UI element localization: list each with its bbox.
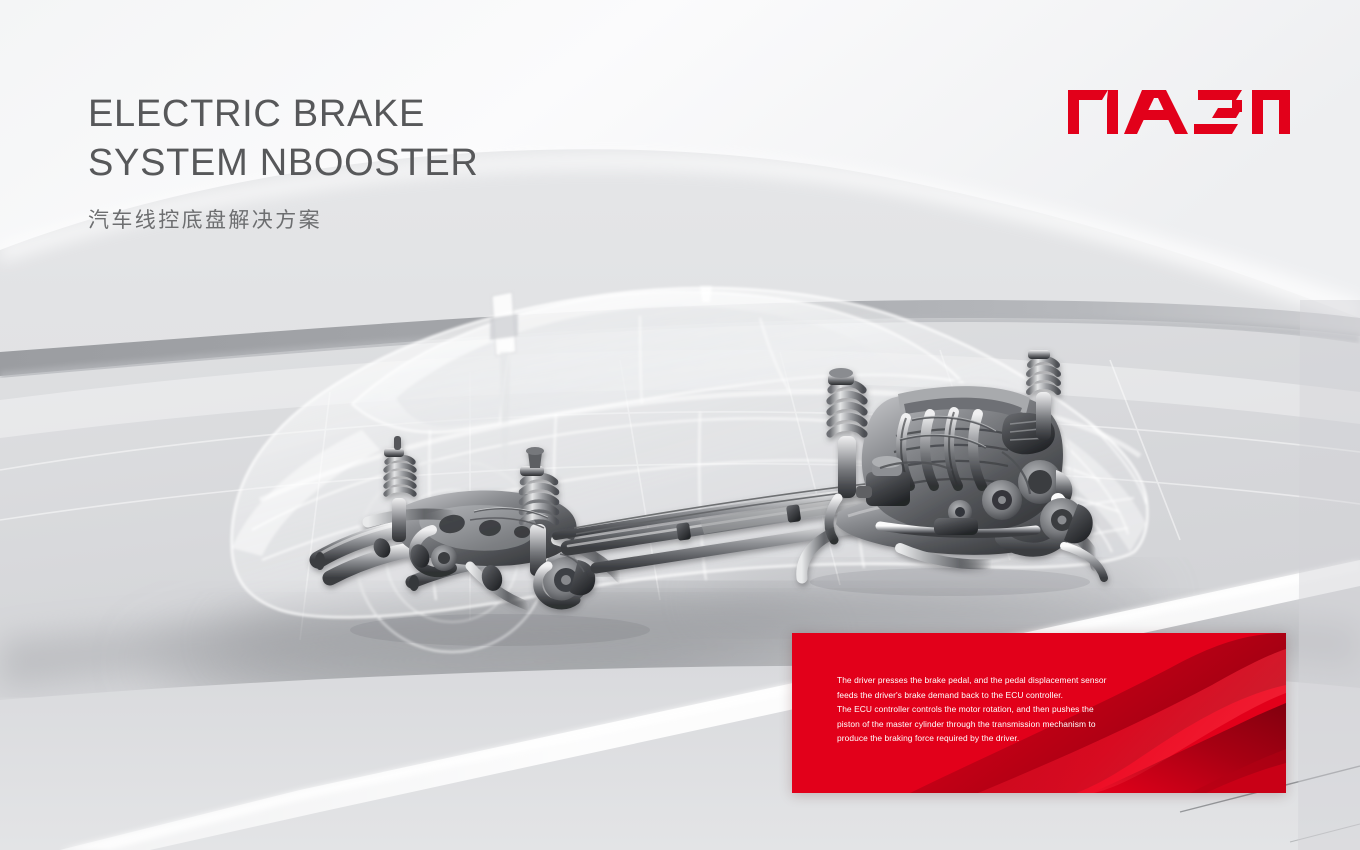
callout-line-4: piston of the master cylinder through th… — [837, 717, 1137, 732]
callout-line-1: The driver presses the brake pedal, and … — [837, 673, 1137, 688]
logo-letter-a-bar — [1139, 110, 1171, 120]
headline-line-2: SYSTEM NBOOSTER — [88, 139, 479, 188]
logo-letter-n1-stem — [1107, 90, 1118, 134]
callout-line-5: produce the braking force required by th… — [837, 731, 1137, 746]
nasn-wordmark-glyphs — [1068, 90, 1290, 134]
headline-subtitle: 汽车线控底盘解决方案 — [88, 204, 479, 234]
slide-canvas: ELECTRIC BRAKE SYSTEM NBOOSTER 汽车线控底盘解决方… — [0, 0, 1360, 850]
headline-block: ELECTRIC BRAKE SYSTEM NBOOSTER 汽车线控底盘解决方… — [88, 90, 479, 234]
logo-letter-s-top — [1198, 90, 1242, 100]
callout-line-2: feeds the driver's brake demand back to … — [837, 688, 1137, 703]
callout-panel: The driver presses the brake pedal, and … — [792, 633, 1286, 793]
headline-line-1: ELECTRIC BRAKE — [88, 90, 479, 139]
logo-letter-n1 — [1068, 90, 1108, 134]
callout-text-block: The driver presses the brake pedal, and … — [837, 673, 1137, 746]
callout-line-3: The ECU controller controls the motor ro… — [837, 702, 1137, 717]
nasn-logo — [1066, 82, 1292, 134]
logo-letter-n2-stem — [1279, 90, 1290, 134]
logo-letter-s-bot — [1194, 124, 1238, 134]
logo-letter-s-edge — [1232, 100, 1242, 112]
